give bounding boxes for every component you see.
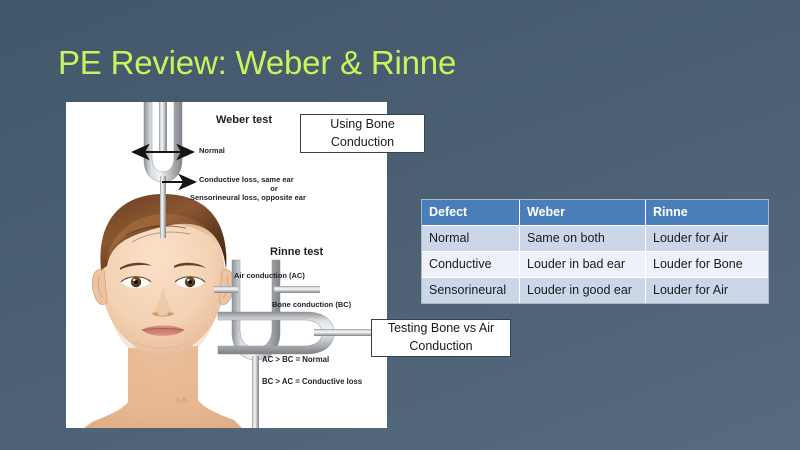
callout-using-bone-conduction: Using Bone Conduction — [300, 114, 425, 153]
air-conduction-label: Air conduction (AC) — [234, 271, 305, 280]
cell-rinne: Louder for Bone — [646, 252, 768, 278]
column-header-weber: Weber — [520, 200, 646, 226]
cell-defect: Normal — [422, 226, 520, 252]
bone-conduction-label: Bone conduction (BC) — [272, 300, 351, 309]
weber-rinne-results-table: Defect Weber Rinne Normal Same on both L… — [422, 200, 768, 303]
slide-canvas: PE Review: Weber & Rinne — [0, 0, 800, 450]
cell-rinne: Louder for Air — [646, 278, 768, 303]
cell-defect: Conductive — [422, 252, 520, 278]
page-title: PE Review: Weber & Rinne — [58, 44, 456, 82]
weber-loss-or-label: or — [199, 184, 349, 193]
cell-weber: Louder in good ear — [520, 278, 646, 303]
rinne-test-heading: Rinne test — [270, 246, 323, 260]
column-header-rinne: Rinne — [646, 200, 768, 226]
table-row: Sensorineural Louder in good ear Louder … — [422, 278, 768, 303]
artist-signature-mark: a.B. — [176, 397, 189, 404]
rinne-rule-conductive: BC > AC = Conductive loss — [262, 377, 362, 387]
weber-normal-label: Normal — [199, 146, 225, 155]
callout-testing-bone-vs-air-conduction: Testing Bone vs Air Conduction — [371, 319, 511, 357]
weber-sensorineural-loss-label: Sensorineural loss, opposite ear — [190, 193, 306, 202]
cell-weber: Same on both — [520, 226, 646, 252]
cell-defect: Sensorineural — [422, 278, 520, 303]
weber-conductive-loss-label: Conductive loss, same ear — [199, 175, 294, 184]
table-row: Conductive Louder in bad ear Louder for … — [422, 252, 768, 278]
column-header-defect: Defect — [422, 200, 520, 226]
cell-rinne: Louder for Air — [646, 226, 768, 252]
table-header-row: Defect Weber Rinne — [422, 200, 768, 226]
rinne-rule-normal: AC > BC = Normal — [262, 355, 329, 365]
rinne-tuning-fork-bone-conduction — [218, 312, 387, 354]
cell-weber: Louder in bad ear — [520, 252, 646, 278]
weber-test-heading: Weber test — [216, 114, 272, 128]
table-row: Normal Same on both Louder for Air — [422, 226, 768, 252]
